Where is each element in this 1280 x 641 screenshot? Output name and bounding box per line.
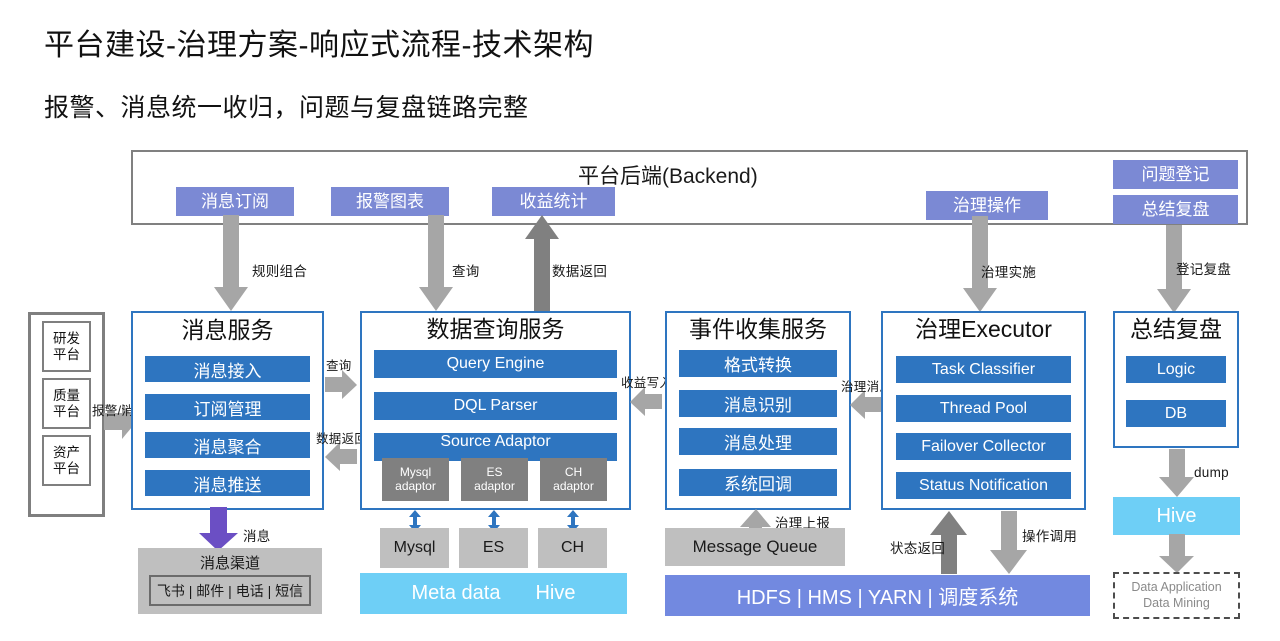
backend-button-message-subscribe[interactable]: 消息订阅 <box>176 187 294 216</box>
item-logic[interactable]: Logic <box>1126 356 1226 383</box>
item-message-aggregate[interactable]: 消息聚合 <box>145 432 310 458</box>
label-rule-combine: 规则组合 <box>252 260 307 280</box>
arrow-profit-write <box>630 387 663 417</box>
page-subtitle: 报警、消息统一收归，问题与复盘链路完整 <box>44 88 529 124</box>
adaptor-es[interactable]: ESadaptor <box>461 458 528 501</box>
label-query-top: 查询 <box>452 260 480 280</box>
store-ch[interactable]: CH <box>538 528 607 568</box>
item-thread-pool[interactable]: Thread Pool <box>896 395 1071 422</box>
item-message-push[interactable]: 消息推送 <box>145 470 310 496</box>
item-subscription-mgmt[interactable]: 订阅管理 <box>145 394 310 420</box>
backend-button-profit-stats[interactable]: 收益统计 <box>492 187 615 216</box>
item-format-convert[interactable]: 格式转换 <box>679 350 837 377</box>
item-failover-collector[interactable]: Failover Collector <box>896 433 1071 460</box>
panel-title-message-service: 消息服务 <box>131 318 324 343</box>
platform-asset[interactable]: 资产平台 <box>42 435 91 486</box>
item-dql-parser[interactable]: DQL Parser <box>374 392 617 420</box>
panel-title-data-query-service: 数据查询服务 <box>360 317 631 342</box>
label-message: 消息 <box>243 525 271 545</box>
item-task-classifier[interactable]: Task Classifier <box>896 356 1071 383</box>
label-status-return: 状态返回 <box>890 537 945 557</box>
item-query-engine[interactable]: Query Engine <box>374 350 617 378</box>
data-application-line2: Data Mining <box>1143 596 1210 612</box>
item-message-process[interactable]: 消息处理 <box>679 428 837 455</box>
adaptor-ch[interactable]: CHadaptor <box>540 458 607 501</box>
backend-title: 平台后端(Backend) <box>578 160 758 190</box>
meta-hive-label: Hive <box>535 582 575 605</box>
meta-data-label: Meta data <box>412 582 501 605</box>
panel-title-governance-executor: 治理Executor <box>881 317 1086 342</box>
backend-button-issue-register[interactable]: 问题登记 <box>1113 160 1238 189</box>
item-status-notification[interactable]: Status Notification <box>896 472 1071 499</box>
data-application-box: Data Application Data Mining <box>1113 572 1240 619</box>
label-data-return-top: 数据返回 <box>552 260 607 280</box>
label-governance-exec: 治理实施 <box>981 261 1036 281</box>
store-es[interactable]: ES <box>459 528 528 568</box>
item-source-adaptor[interactable]: Source Adaptor <box>374 433 617 461</box>
arrow-hive-to-dataapp <box>1159 534 1195 574</box>
adaptor-mysql[interactable]: Mysqladaptor <box>382 458 449 501</box>
arrow-dump <box>1159 449 1195 498</box>
label-dump: dump <box>1194 465 1229 480</box>
message-queue-box: Message Queue <box>665 528 845 566</box>
message-channel-items: 飞书 | 邮件 | 电话 | 短信 <box>149 575 311 606</box>
arrow-query-mid <box>325 370 358 400</box>
panel-title-summary-review: 总结复盘 <box>1113 317 1239 342</box>
hive-band: Hive <box>1113 497 1240 535</box>
store-mysql[interactable]: Mysql <box>380 528 449 568</box>
arrow-message-purple <box>199 507 239 552</box>
backend-button-summary-review[interactable]: 总结复盘 <box>1113 195 1238 224</box>
backend-button-alert-chart[interactable]: 报警图表 <box>331 187 449 216</box>
page-title: 平台建设-治理方案-响应式流程-技术架构 <box>44 20 594 64</box>
item-system-callback[interactable]: 系统回调 <box>679 469 837 496</box>
platform-quality[interactable]: 质量平台 <box>42 378 91 429</box>
label-operation-call: 操作调用 <box>1022 525 1077 545</box>
item-message-recognize[interactable]: 消息识别 <box>679 390 837 417</box>
arrow-rule-combine <box>214 215 256 313</box>
label-register-review: 登记复盘 <box>1176 258 1231 278</box>
item-message-ingest[interactable]: 消息接入 <box>145 356 310 382</box>
label-query-mid: 查询 <box>326 355 352 374</box>
message-channel-title: 消息渠道 <box>138 552 322 573</box>
big-data-band: HDFS | HMS | YARN | 调度系统 <box>665 575 1090 616</box>
panel-title-event-collect-service: 事件收集服务 <box>665 317 851 342</box>
data-application-line1: Data Application <box>1131 580 1221 596</box>
meta-data-band: Meta data Hive <box>360 573 627 614</box>
platform-rd[interactable]: 研发平台 <box>42 321 91 372</box>
item-db[interactable]: DB <box>1126 400 1226 427</box>
